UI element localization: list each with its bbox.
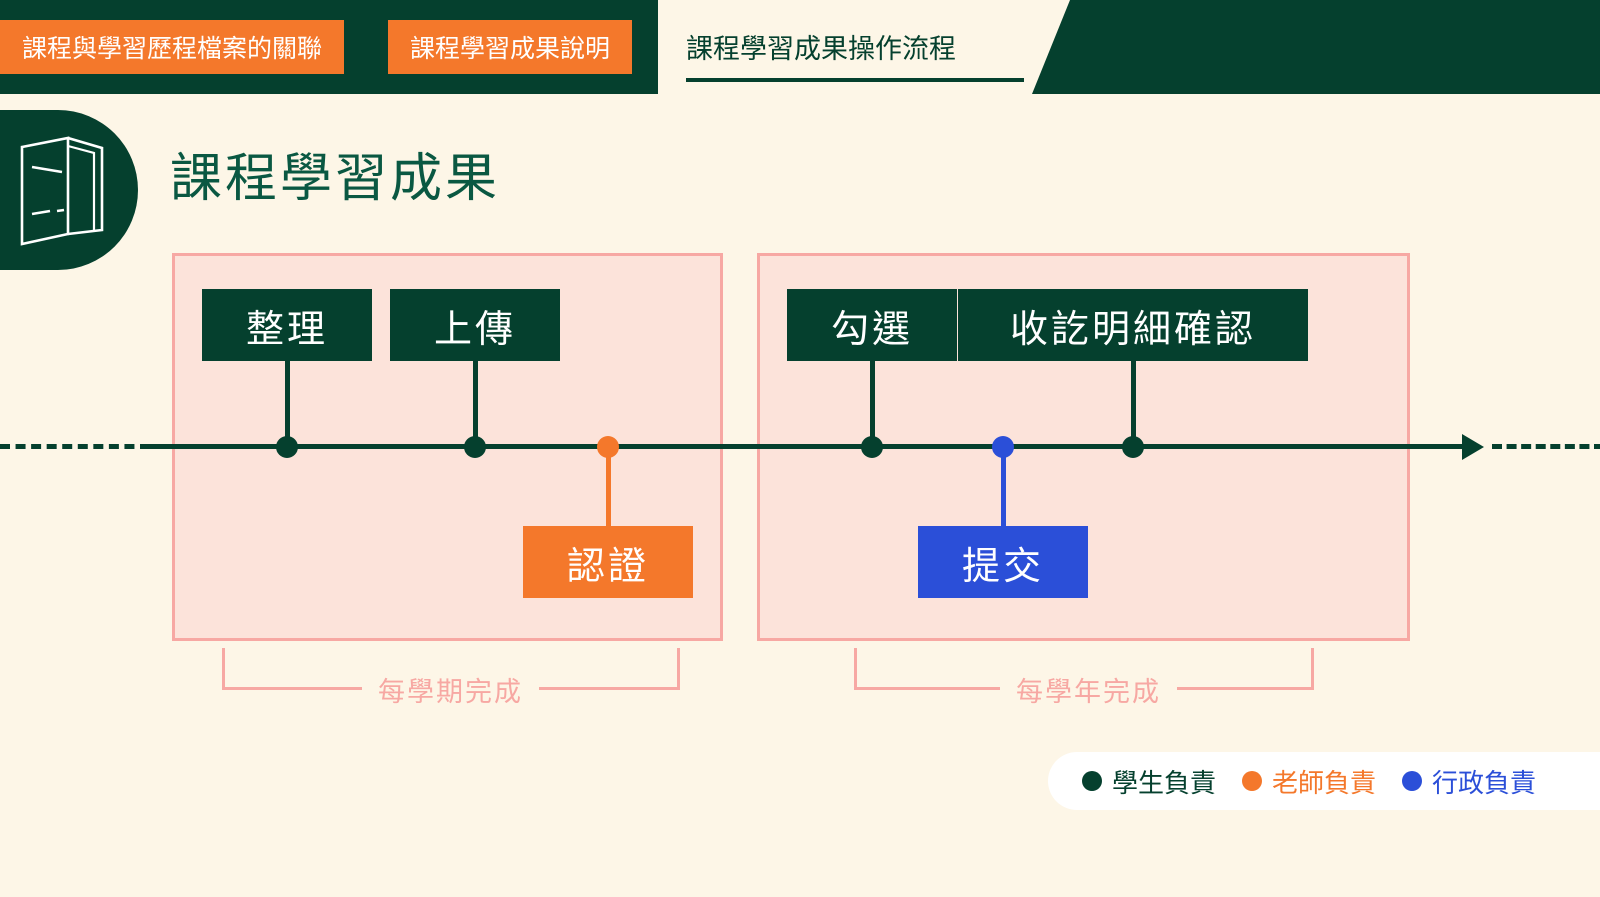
tab-course-portfolio-relation[interactable]: 課程與學習歷程檔案的關聯 — [0, 20, 344, 74]
legend-item-student: 學生負責 — [1082, 763, 1216, 800]
timeline-arrow-icon — [1462, 434, 1484, 460]
active-tab-underline — [686, 78, 1024, 82]
timeline-node-dot — [992, 436, 1014, 458]
legend-label: 老師負責 — [1272, 763, 1376, 800]
timeline-dashed-left — [0, 444, 150, 449]
timeline-node-stem — [606, 446, 611, 526]
tab-bar: 課程與學習歷程檔案的關聯 課程學習成果說明 課程學習成果操作流程 — [0, 0, 1600, 94]
page-title: 課程學習成果 — [170, 136, 500, 211]
flow-step-2[interactable]: 上傳 — [390, 289, 560, 361]
flow-step-3[interactable]: 認證 — [523, 526, 693, 598]
timeline-node-stem — [1131, 360, 1136, 446]
booklet-icon — [16, 130, 108, 250]
tab-course-outcome-process[interactable]: 課程學習成果操作流程 — [658, 0, 1070, 94]
timeline-node-dot — [861, 436, 883, 458]
tab-label: 課程學習成果操作流程 — [686, 13, 956, 66]
flow-step-5[interactable]: 提交 — [918, 526, 1088, 598]
flow-step-4[interactable]: 勾選 — [787, 289, 957, 361]
timeline-node-dot — [597, 436, 619, 458]
tab-label: 課程與學習歷程檔案的關聯 — [22, 29, 322, 65]
tab-course-outcome-description[interactable]: 課程學習成果說明 — [388, 20, 632, 74]
timeline-node-dot — [276, 436, 298, 458]
legend-label: 行政負責 — [1432, 763, 1536, 800]
legend-label: 學生負責 — [1112, 763, 1216, 800]
tab-separator — [376, 20, 386, 74]
timeline-node-dot — [464, 436, 486, 458]
timeline-node-stem — [1001, 446, 1006, 526]
legend-dot-teacher — [1242, 771, 1262, 791]
flow-step-label: 上傳 — [434, 298, 516, 353]
tab-label: 課程學習成果說明 — [410, 29, 610, 65]
timeline-dashed-right — [1492, 444, 1600, 449]
timeline-node-stem — [473, 360, 478, 446]
flow-step-label: 認證 — [567, 535, 649, 590]
flow-step-label: 勾選 — [831, 298, 913, 353]
flow-step-1[interactable]: 整理 — [202, 289, 372, 361]
flow-step-6[interactable]: 收訖明細確認 — [958, 289, 1308, 361]
timeline-axis — [146, 444, 1472, 449]
timeline-node-stem — [870, 360, 875, 446]
booklet-icon-badge — [0, 110, 138, 270]
legend-item-teacher: 老師負責 — [1242, 763, 1376, 800]
legend-dot-admin — [1402, 771, 1422, 791]
flow-step-label: 提交 — [962, 535, 1044, 590]
flow-step-label: 收訖明細確認 — [1010, 298, 1256, 353]
phase-caption-semester: 每學期完成 — [362, 670, 539, 709]
legend: 學生負責老師負責行政負責 — [1048, 752, 1600, 810]
legend-dot-student — [1082, 771, 1102, 791]
timeline-node-dot — [1122, 436, 1144, 458]
flow-step-label: 整理 — [246, 298, 328, 353]
phase-caption-year: 每學年完成 — [1000, 670, 1177, 709]
timeline-node-stem — [285, 360, 290, 446]
legend-item-admin: 行政負責 — [1402, 763, 1536, 800]
